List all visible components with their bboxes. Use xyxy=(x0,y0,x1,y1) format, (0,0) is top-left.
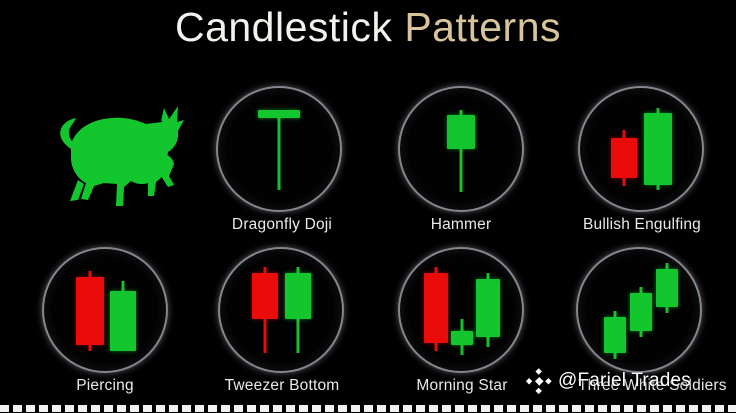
candle-body xyxy=(630,293,652,331)
pattern-circle xyxy=(580,88,702,210)
watermark-handle: @Fariel Trades xyxy=(558,370,691,392)
candle-bullish-3 xyxy=(476,273,500,347)
title-accent: Patterns xyxy=(404,4,561,50)
infographic-canvas: Candlestick Patterns xyxy=(0,0,736,413)
bull-logo xyxy=(38,88,190,210)
pattern-circle xyxy=(578,249,700,371)
pattern-cell-hammer[interactable]: Hammer xyxy=(400,88,522,240)
candle-body xyxy=(476,279,500,337)
pattern-circle xyxy=(400,88,522,210)
diamond-cluster-icon xyxy=(526,368,552,394)
candle-bullish-2 xyxy=(644,108,672,190)
candle-soldier-2 xyxy=(630,287,652,337)
candle-lower-wick xyxy=(278,118,281,190)
pattern-circle xyxy=(400,249,522,371)
candle-body xyxy=(656,269,678,307)
pattern-illustration xyxy=(400,249,522,371)
candle-body xyxy=(611,138,637,178)
pattern-illustration xyxy=(400,88,522,210)
candle-body xyxy=(604,317,626,353)
candle-body xyxy=(644,113,672,185)
pattern-cell-morning-star[interactable]: Morning Star xyxy=(400,249,524,401)
page-title: Candlestick Patterns xyxy=(0,2,736,52)
pattern-illustration xyxy=(218,88,340,210)
pattern-circle xyxy=(218,88,340,210)
pattern-label: Piercing xyxy=(44,377,166,395)
candle-body xyxy=(110,291,136,351)
candle-body xyxy=(76,277,104,345)
pattern-cell-tweezer-bottom[interactable]: Tweezer Bottom xyxy=(220,249,344,401)
candle-bearish-1 xyxy=(424,267,448,351)
candle-body xyxy=(424,273,448,343)
candle-dragonfly xyxy=(258,110,300,190)
pattern-circle xyxy=(44,249,166,371)
candle-bullish-2 xyxy=(110,281,136,351)
pattern-label: Dragonfly Doji xyxy=(218,216,346,234)
pattern-illustration xyxy=(580,88,702,210)
pattern-label: Morning Star xyxy=(400,377,524,395)
pattern-cell-bullish-engulfing[interactable]: Bullish Engulfing xyxy=(580,88,704,240)
pattern-illustration xyxy=(44,249,166,371)
candle-hammer xyxy=(447,110,475,192)
candle-soldier-1 xyxy=(604,311,626,359)
candle-soldier-3 xyxy=(656,263,678,313)
candle-body xyxy=(447,115,475,149)
title-primary: Candlestick xyxy=(175,4,392,50)
candle-star-2 xyxy=(451,319,473,355)
pattern-label: Hammer xyxy=(400,216,522,234)
candle-body xyxy=(285,273,311,319)
candle-bearish-1 xyxy=(76,271,104,351)
pattern-cell-piercing[interactable]: Piercing xyxy=(44,249,166,401)
progress-strip[interactable] xyxy=(0,405,736,412)
watermark: @Fariel Trades xyxy=(526,366,691,396)
candle-bearish-1 xyxy=(252,267,278,353)
pattern-illustration xyxy=(220,249,342,371)
candle-body xyxy=(451,331,473,345)
candle-body xyxy=(258,110,300,118)
pattern-cell-dragonfly-doji[interactable]: Dragonfly Doji xyxy=(218,88,346,240)
candle-bullish-2 xyxy=(285,267,311,353)
pattern-circle xyxy=(220,249,342,371)
pattern-illustration xyxy=(578,249,700,371)
candle-bearish-1 xyxy=(611,130,637,186)
pattern-label: Bullish Engulfing xyxy=(580,216,704,234)
candle-body xyxy=(252,273,278,319)
pattern-label: Tweezer Bottom xyxy=(220,377,344,395)
